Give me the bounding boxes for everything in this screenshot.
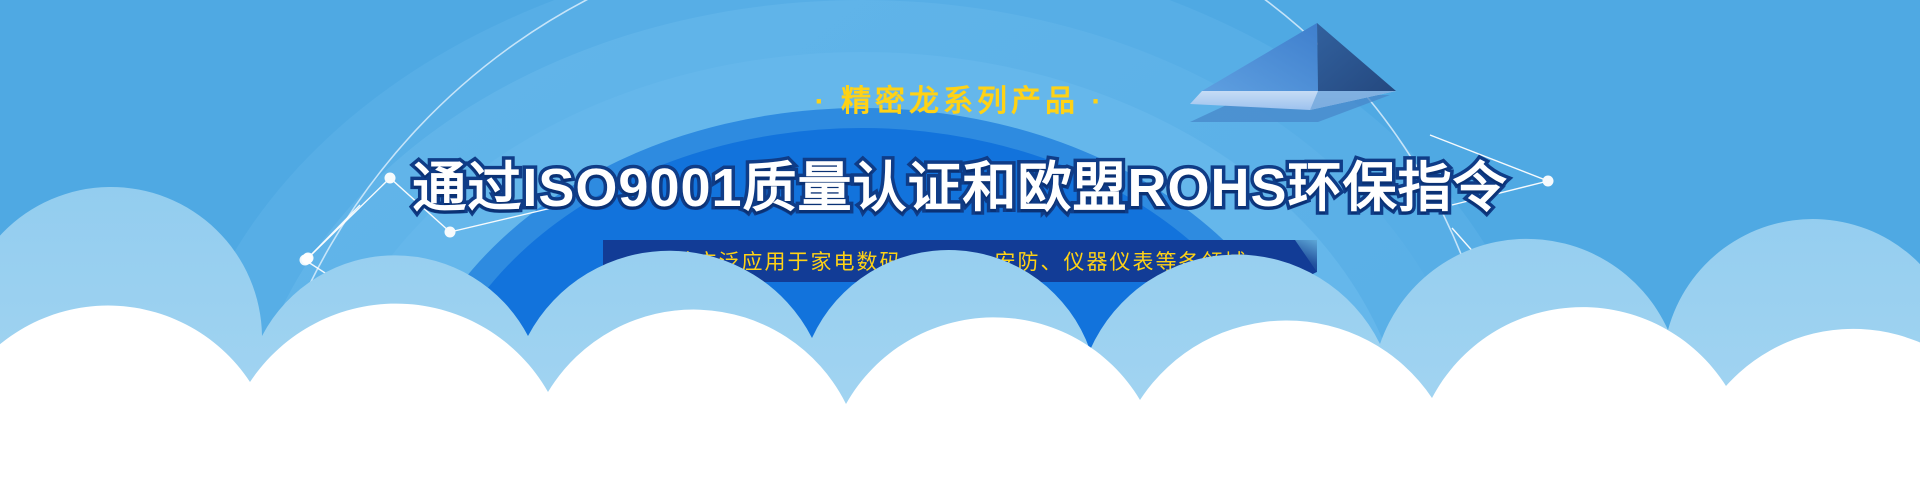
node-dot [445, 227, 456, 238]
node-dot [302, 254, 313, 265]
banner-subtitle-bar: 并广泛应用于家电数码、通信、安防、仪器仪表等各领域 [603, 240, 1317, 282]
promo-banner: · 精密龙系列产品 · 通过ISO9001质量认证和欧盟ROHS环保指令 并广泛… [0, 0, 1920, 480]
banner-subtitle: 并广泛应用于家电数码、通信、安防、仪器仪表等各领域 [673, 246, 1248, 276]
banner-headline: 通过ISO9001质量认证和欧盟ROHS环保指令 [0, 143, 1920, 222]
banner-eyebrow: · 精密龙系列产品 · [0, 76, 1920, 120]
